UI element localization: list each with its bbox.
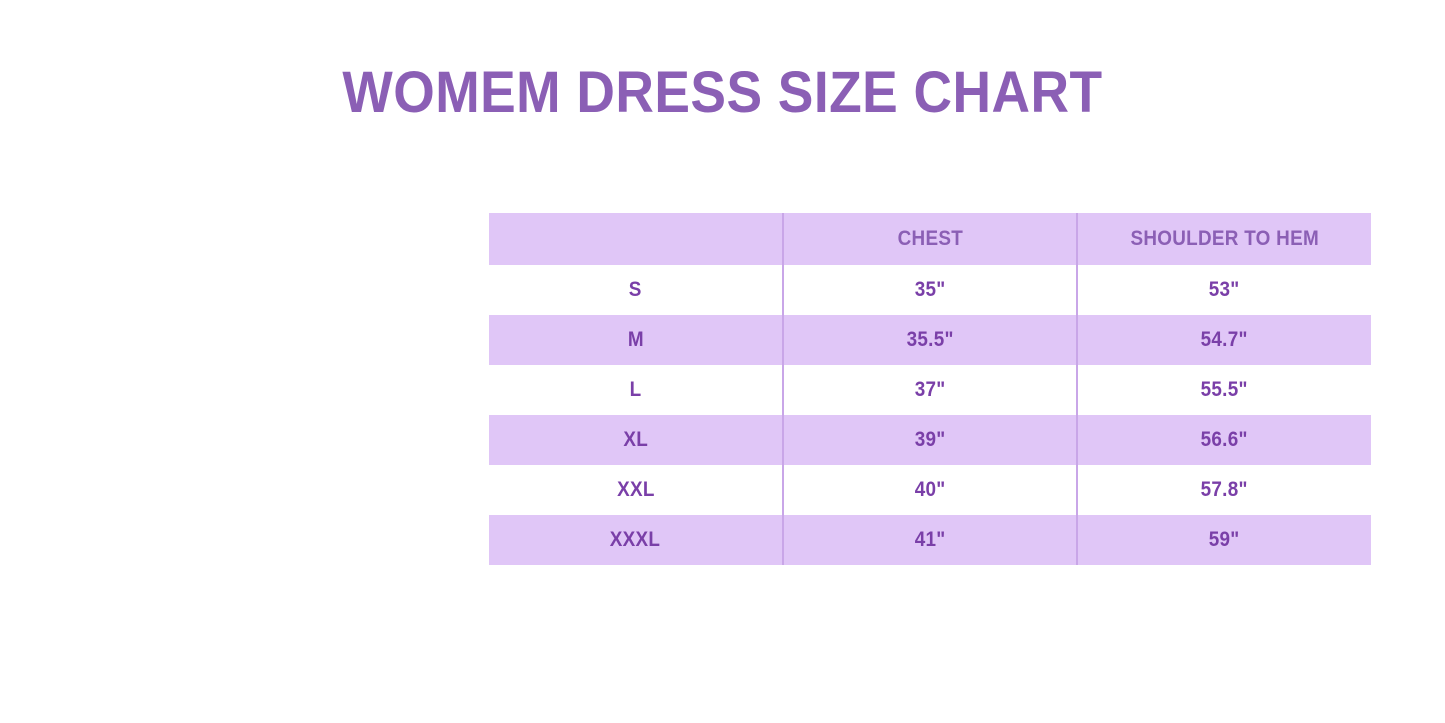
cell-chest: 35" bbox=[783, 265, 1077, 315]
cell-shoulder-to-hem-value: 55.5" bbox=[1201, 378, 1248, 402]
cell-shoulder-to-hem: 55.5" bbox=[1077, 365, 1371, 415]
table-row: XL 39" 56.6" bbox=[489, 415, 1371, 465]
column-header-size bbox=[489, 213, 783, 265]
cell-shoulder-to-hem-value: 56.6" bbox=[1201, 428, 1248, 452]
cell-chest-value: 37" bbox=[915, 378, 946, 402]
column-header-chest-label: CHEST bbox=[897, 227, 962, 251]
cell-size-label: XXXL bbox=[610, 528, 660, 552]
table-row: L 37" 55.5" bbox=[489, 365, 1371, 415]
table-header: CHEST SHOULDER TO HEM bbox=[489, 213, 1371, 265]
cell-size: XXXL bbox=[489, 515, 783, 565]
cell-chest-value: 41" bbox=[915, 528, 946, 552]
cell-size: XXL bbox=[489, 465, 783, 515]
cell-shoulder-to-hem: 57.8" bbox=[1077, 465, 1371, 515]
cell-size-label: L bbox=[630, 378, 642, 402]
cell-chest: 37" bbox=[783, 365, 1077, 415]
cell-chest: 40" bbox=[783, 465, 1077, 515]
cell-shoulder-to-hem: 53" bbox=[1077, 265, 1371, 315]
cell-chest-value: 40" bbox=[915, 478, 946, 502]
cell-size-label: M bbox=[627, 328, 643, 352]
cell-shoulder-to-hem: 56.6" bbox=[1077, 415, 1371, 465]
table-row: S 35" 53" bbox=[489, 265, 1371, 315]
cell-size: XL bbox=[489, 415, 783, 465]
cell-shoulder-to-hem: 54.7" bbox=[1077, 315, 1371, 365]
cell-chest-value: 39" bbox=[915, 428, 946, 452]
cell-size: S bbox=[489, 265, 783, 315]
cell-chest: 35.5" bbox=[783, 315, 1077, 365]
cell-chest: 41" bbox=[783, 515, 1077, 565]
cell-size-label: XL bbox=[623, 428, 648, 452]
cell-shoulder-to-hem-value: 57.8" bbox=[1201, 478, 1248, 502]
table-row: XXL 40" 57.8" bbox=[489, 465, 1371, 515]
cell-size: M bbox=[489, 315, 783, 365]
cell-shoulder-to-hem: 59" bbox=[1077, 515, 1371, 565]
table-row: XXXL 41" 59" bbox=[489, 515, 1371, 565]
cell-chest: 39" bbox=[783, 415, 1077, 465]
table-row: M 35.5" 54.7" bbox=[489, 315, 1371, 365]
cell-chest-value: 35" bbox=[915, 278, 946, 302]
size-chart-table-container: CHEST SHOULDER TO HEM S 35" 53" M 35.5" … bbox=[489, 213, 1371, 566]
cell-size-label: S bbox=[629, 278, 642, 302]
cell-shoulder-to-hem-value: 54.7" bbox=[1201, 328, 1248, 352]
column-header-shoulder-to-hem: SHOULDER TO HEM bbox=[1077, 213, 1371, 265]
cell-shoulder-to-hem-value: 59" bbox=[1209, 528, 1240, 552]
table-body: S 35" 53" M 35.5" 54.7" L 37" 55.5" XL 3… bbox=[489, 265, 1371, 565]
size-chart-table: CHEST SHOULDER TO HEM S 35" 53" M 35.5" … bbox=[489, 213, 1371, 565]
column-header-chest: CHEST bbox=[783, 213, 1077, 265]
cell-size: L bbox=[489, 365, 783, 415]
table-header-row: CHEST SHOULDER TO HEM bbox=[489, 213, 1371, 265]
page-title: WOMEM DRESS SIZE CHART bbox=[58, 58, 1387, 128]
column-header-shoulder-to-hem-label: SHOULDER TO HEM bbox=[1130, 227, 1319, 251]
cell-size-label: XXL bbox=[617, 478, 655, 502]
size-chart-page: WOMEM DRESS SIZE CHART CHEST SHOULDER TO… bbox=[0, 0, 1445, 723]
cell-shoulder-to-hem-value: 53" bbox=[1209, 278, 1240, 302]
cell-chest-value: 35.5" bbox=[906, 328, 953, 352]
